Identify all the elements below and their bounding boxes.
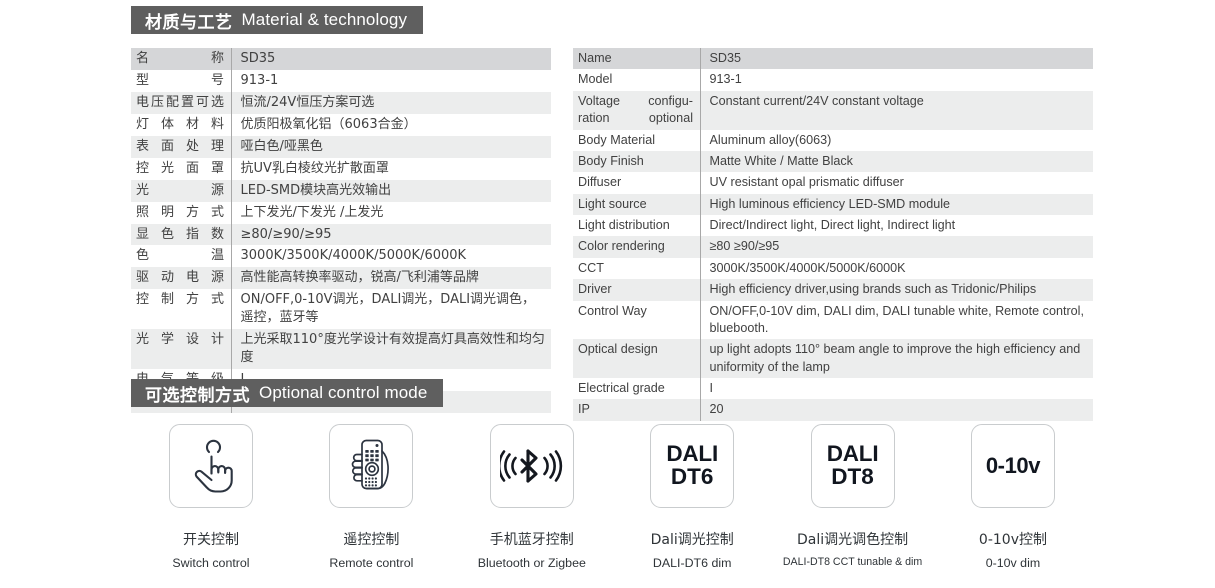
spec-value: 哑白色/哑黑色: [231, 136, 551, 158]
spec-value: Constant current/24V constant voltage: [700, 91, 1093, 130]
spec-value: 上光采取110°度光学设计有效提高灯具高效性和均匀度: [231, 329, 551, 369]
spec-key: 色 温: [131, 245, 231, 267]
table-row: Driver High efficiency driver,using bran…: [573, 279, 1093, 300]
table-row: 名 称 SD35: [131, 48, 551, 70]
spec-key: 表 面 处 理: [131, 136, 231, 158]
section-header-material-en: Material & technology: [242, 10, 408, 30]
spec-key-label: 表 面 处 理: [136, 138, 224, 156]
control-mode-label-cn: Dali调光调色控制: [797, 529, 908, 549]
table-row: Color rendering ≥80 ≥90/≥95: [573, 236, 1093, 257]
spec-key: IP: [573, 399, 700, 420]
spec-key: 电压配置可选: [131, 92, 231, 114]
table-row: Name SD35: [573, 48, 1093, 69]
dali-dt6-icon: DALI DT6: [666, 443, 718, 489]
zero-to-ten-volt-icon: 0-10v: [986, 453, 1040, 479]
hand-remote-icon: [343, 437, 399, 495]
control-mode-label-cn: 开关控制: [183, 529, 239, 549]
table-row: 色 温 3000K/3500K/4000K/5000K/6000K: [131, 245, 551, 267]
table-row: CCT 3000K/3500K/4000K/5000K/6000K: [573, 258, 1093, 279]
zero-to-ten-volt-icon-box: 0-10v: [971, 424, 1055, 508]
table-row: 照明方式 上下发光/下发光 /上发光: [131, 202, 551, 224]
spec-key: Color rendering: [573, 236, 700, 257]
spec-key-label: 灯 体 材 料: [136, 116, 224, 134]
control-mode-label-cn: 遥控控制: [343, 529, 399, 549]
dali-dt8-icon-box: DALI DT8: [811, 424, 895, 508]
table-row: 光 源 LED-SMD模块高光效输出: [131, 180, 551, 202]
control-mode-label-en: DALI-DT6 dim: [653, 556, 732, 570]
hand-tap-icon-box: [169, 424, 253, 508]
table-row: 控制方式 ON/OFF,0-10V调光，DALI调光，DALI调光调色，遥控，蓝…: [131, 289, 551, 329]
spec-key-label: 光学设计: [136, 331, 224, 349]
table-row: 型号 913-1: [131, 70, 551, 92]
control-mode-card-remote[interactable]: 遥控控制 Remote control: [291, 424, 451, 570]
spec-key: Body Material: [573, 130, 700, 151]
spec-key: Electrical grade: [573, 378, 700, 399]
spec-key-label: 名 称: [136, 50, 224, 68]
spec-value: up light adopts 110° beam angle to impro…: [700, 339, 1093, 378]
spec-key-label: Voltage configu-ration optional: [578, 93, 693, 128]
spec-key-label: 色 温: [136, 247, 224, 265]
spec-key: Control Way: [573, 301, 700, 340]
table-row: Body Material Aluminum alloy(6063): [573, 130, 1093, 151]
spec-table-english: Name SD35 Model 913-1 Voltage configu-ra…: [573, 48, 1093, 421]
table-row: Body Finish Matte White / Matte Black: [573, 151, 1093, 172]
control-mode-label-cn: 0-10v控制: [979, 529, 1047, 549]
spec-value: 高性能高转换率驱动，锐高/飞利浦等品牌: [231, 267, 551, 289]
spec-key: Body Finish: [573, 151, 700, 172]
spec-value: I: [700, 378, 1093, 399]
table-row: Diffuser UV resistant opal prismatic dif…: [573, 172, 1093, 193]
spec-value: SD35: [231, 48, 551, 70]
spec-key: 灯 体 材 料: [131, 114, 231, 136]
table-row: 灯 体 材 料 优质阳极氧化铝（6063合金）: [131, 114, 551, 136]
section-header-control-mode: 可选控制方式 Optional control mode: [131, 379, 443, 407]
spec-value: Direct/Indirect light, Direct light, Ind…: [700, 215, 1093, 236]
spec-key: Light source: [573, 194, 700, 215]
control-mode-card-switch[interactable]: 开关控制 Switch control: [131, 424, 291, 570]
spec-value: Aluminum alloy(6063): [700, 130, 1093, 151]
control-mode-label-en: Bluetooth or Zigbee: [478, 556, 586, 570]
section-header-control-cn: 可选控制方式: [145, 381, 250, 406]
spec-value: 913-1: [231, 70, 551, 92]
control-mode-label-en: 0-10v dim: [986, 556, 1040, 570]
hand-tap-icon: [185, 438, 237, 494]
dali-dt8-line2: DT8: [827, 466, 879, 489]
table-row: Electrical grade I: [573, 378, 1093, 399]
spec-value: 913-1: [700, 69, 1093, 90]
spec-value: ON/OFF,0-10V调光，DALI调光，DALI调光调色，遥控，蓝牙等: [231, 289, 551, 329]
spec-key: Driver: [573, 279, 700, 300]
spec-key: Name: [573, 48, 700, 69]
table-row: Control Way ON/OFF,0-10V dim, DALI dim, …: [573, 301, 1093, 340]
dali-dt6-line1: DALI: [666, 443, 718, 466]
spec-key: 显 色 指 数: [131, 224, 231, 246]
spec-value: 恒流/24V恒压方案可选: [231, 92, 551, 114]
dali-dt6-icon-box: DALI DT6: [650, 424, 734, 508]
control-mode-card-0-10v[interactable]: 0-10v 0-10v控制 0-10v dim: [933, 424, 1093, 570]
spec-value: ≥80 ≥90/≥95: [700, 236, 1093, 257]
spec-value: High efficiency driver,using brands such…: [700, 279, 1093, 300]
dali-dt6-line2: DT6: [666, 466, 718, 489]
table-row: 电压配置可选 恒流/24V恒压方案可选: [131, 92, 551, 114]
spec-value: 优质阳极氧化铝（6063合金）: [231, 114, 551, 136]
spec-value: 上下发光/下发光 /上发光: [231, 202, 551, 224]
spec-key: 光学设计: [131, 329, 231, 369]
table-row: Voltage configu-ration optional Constant…: [573, 91, 1093, 130]
control-mode-label-en: Switch control: [172, 556, 249, 570]
spec-key: Voltage configu-ration optional: [573, 91, 700, 130]
table-row: Model 913-1: [573, 69, 1093, 90]
table-row: 光学设计 上光采取110°度光学设计有效提高灯具高效性和均匀度: [131, 329, 551, 369]
table-row: IP 20: [573, 399, 1093, 420]
hand-remote-icon-box: [329, 424, 413, 508]
control-mode-label-en: DALI-DT8 CCT tunable & dim: [783, 556, 922, 568]
spec-value: ≥80/≥90/≥95: [231, 224, 551, 246]
spec-key: 型号: [131, 70, 231, 92]
spec-key-label: 光 源: [136, 182, 224, 200]
spec-key: Diffuser: [573, 172, 700, 193]
table-row: 驱 动 电 源 高性能高转换率驱动，锐高/飞利浦等品牌: [131, 267, 551, 289]
spec-value: UV resistant opal prismatic diffuser: [700, 172, 1093, 193]
control-mode-label-cn: Dali调光控制: [651, 529, 734, 549]
spec-value: 3000K/3500K/4000K/5000K/6000K: [231, 245, 551, 267]
dali-dt8-line1: DALI: [827, 443, 879, 466]
control-mode-label-cn: 手机蓝牙控制: [490, 529, 574, 549]
table-row: Light distribution Direct/Indirect light…: [573, 215, 1093, 236]
spec-key-label: 控制方式: [136, 291, 224, 309]
control-mode-card-dali-dt6[interactable]: DALI DT6 Dali调光控制 DALI-DT6 dim: [612, 424, 772, 570]
dali-dt8-icon: DALI DT8: [827, 443, 879, 489]
table-row: Light source High luminous efficiency LE…: [573, 194, 1093, 215]
spec-value: LED-SMD模块高光效输出: [231, 180, 551, 202]
section-header-control-en: Optional control mode: [259, 383, 427, 403]
spec-key-label: 显 色 指 数: [136, 226, 224, 244]
bluetooth-wave-icon-box: [490, 424, 574, 508]
table-row: 表 面 处 理 哑白色/哑黑色: [131, 136, 551, 158]
spec-value: Matte White / Matte Black: [700, 151, 1093, 172]
spec-key: 光 源: [131, 180, 231, 202]
table-row: 显 色 指 数 ≥80/≥90/≥95: [131, 224, 551, 246]
control-mode-card-bluetooth[interactable]: 手机蓝牙控制 Bluetooth or Zigbee: [452, 424, 612, 570]
section-header-material-cn: 材质与工艺: [145, 8, 233, 33]
control-mode-label-en: Remote control: [329, 556, 413, 570]
spec-value: ON/OFF,0-10V dim, DALI dim, DALI tunable…: [700, 301, 1093, 340]
section-header-material: 材质与工艺 Material & technology: [131, 6, 423, 34]
control-mode-card-list: 开关控制 Switch control: [131, 424, 1093, 570]
spec-value: 抗UV乳白棱纹光扩散面罩: [231, 158, 551, 180]
spec-key: 名 称: [131, 48, 231, 70]
spec-key: Model: [573, 69, 700, 90]
bluetooth-wave-icon: [500, 444, 564, 488]
spec-key: Optical design: [573, 339, 700, 378]
spec-key: 控 光 面 罩: [131, 158, 231, 180]
spec-key: 控制方式: [131, 289, 231, 329]
spec-key: Light distribution: [573, 215, 700, 236]
spec-key-label: 型号: [136, 72, 224, 90]
spec-value: 20: [700, 399, 1093, 420]
table-row: 控 光 面 罩 抗UV乳白棱纹光扩散面罩: [131, 158, 551, 180]
spec-key-label: 照明方式: [136, 204, 224, 222]
spec-key: CCT: [573, 258, 700, 279]
table-row: Optical design up light adopts 110° beam…: [573, 339, 1093, 378]
control-mode-card-dali-dt8[interactable]: DALI DT8 Dali调光调色控制 DALI-DT8 CCT tunable…: [773, 424, 933, 570]
spec-key: 驱 动 电 源: [131, 267, 231, 289]
spec-value: SD35: [700, 48, 1093, 69]
spec-key-label: 控 光 面 罩: [136, 160, 224, 178]
spec-table-chinese: 名 称 SD35 型号 913-1 电压配置可选 恒流/24V恒压方案可选 灯 …: [131, 48, 551, 413]
spec-key-label: 驱 动 电 源: [136, 269, 224, 287]
spec-key-label: 电压配置可选: [136, 94, 224, 112]
spec-value: High luminous efficiency LED-SMD module: [700, 194, 1093, 215]
spec-key: 照明方式: [131, 202, 231, 224]
spec-value: 3000K/3500K/4000K/5000K/6000K: [700, 258, 1093, 279]
